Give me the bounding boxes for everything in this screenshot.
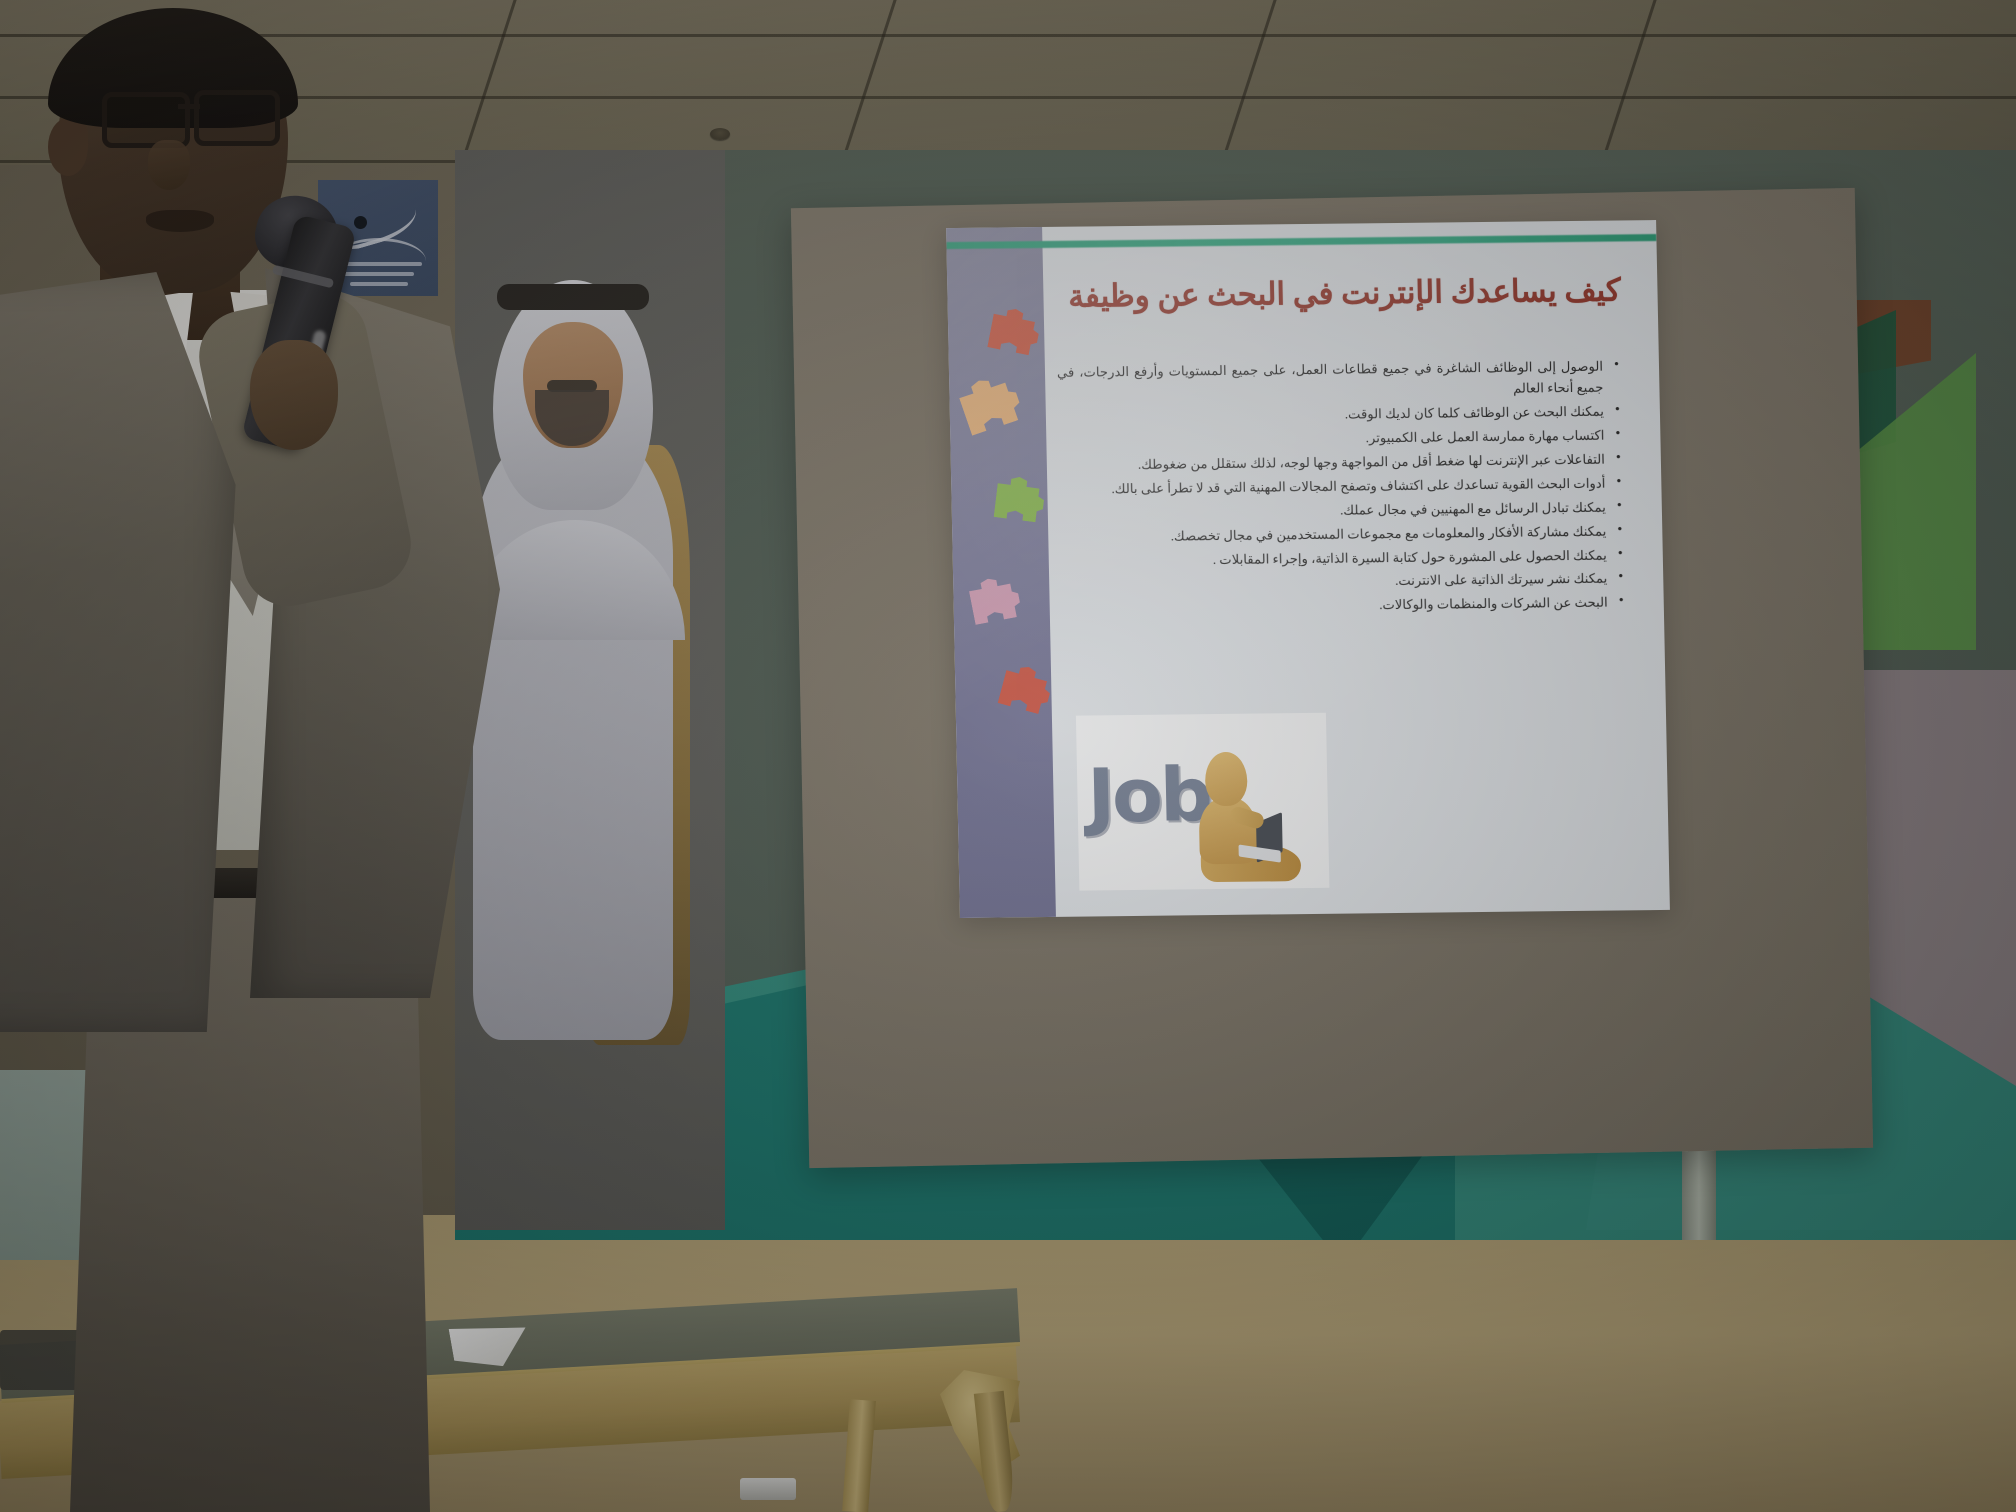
- glasses-icon: [194, 90, 280, 146]
- small-object: [740, 1478, 796, 1500]
- presenter-hand: [250, 340, 338, 450]
- job-wordmark: Job: [1087, 758, 1211, 833]
- slide-title: كيف يساعدك الإنترنت في البحث عن وظيفة: [1057, 272, 1632, 315]
- slide-illustration: Job: [1076, 713, 1330, 891]
- slide-sidebar: [946, 227, 1056, 918]
- slide-bullet-list: الوصول إلى الوظائف الشاغرة في جميع قطاعا…: [1057, 355, 1644, 622]
- list-item: يمكنك الحصول على المشورة حول كتابة السير…: [1061, 544, 1621, 572]
- puzzle-piece-icon: [996, 661, 1057, 722]
- list-item: البحث عن الشركات والمنظمات والوكالات.: [1062, 592, 1622, 620]
- presenter: [0, 0, 590, 1512]
- puzzle-piece-icon: [993, 474, 1049, 530]
- presenter-ear: [48, 118, 88, 176]
- list-item: اكتساب مهارة ممارسة العمل على الكمبيوتر.: [1058, 425, 1618, 453]
- glasses-bridge: [178, 104, 200, 109]
- puzzle-piece-icon: [956, 370, 1030, 443]
- list-item: أدوات البحث القوية تساعدك على اكتشاف وتص…: [1059, 472, 1619, 500]
- puzzle-piece-icon: [967, 573, 1026, 631]
- puzzle-piece-icon: [986, 305, 1045, 364]
- list-item: الوصول إلى الوظائف الشاغرة في جميع قطاعا…: [1057, 355, 1618, 404]
- list-item: يمكنك البحث عن الوظائف كلما كان لديك الو…: [1058, 401, 1618, 429]
- presenter-nose: [148, 140, 190, 190]
- photo-scene: كيف يساعدك الإنترنت في البحث عن وظيفة ال…: [0, 0, 2016, 1512]
- list-item: يمكنك تبادل الرسائل مع المهنيين في مجال …: [1060, 496, 1620, 524]
- list-item: يمكنك نشر سيرتك الذاتية على الانترنت.: [1061, 568, 1621, 596]
- list-item: التفاعلات عبر الإنترنت لها ضغط أقل من ال…: [1059, 448, 1619, 476]
- smoke-detector-icon: [710, 128, 730, 140]
- list-item: يمكنك مشاركة الأفكار والمعلومات مع مجموع…: [1060, 520, 1620, 548]
- slide-accent-line: [946, 234, 1656, 249]
- projected-slide: كيف يساعدك الإنترنت في البحث عن وظيفة ال…: [946, 220, 1670, 918]
- figure-head: [1205, 752, 1248, 806]
- presenter-mouth: [146, 210, 214, 232]
